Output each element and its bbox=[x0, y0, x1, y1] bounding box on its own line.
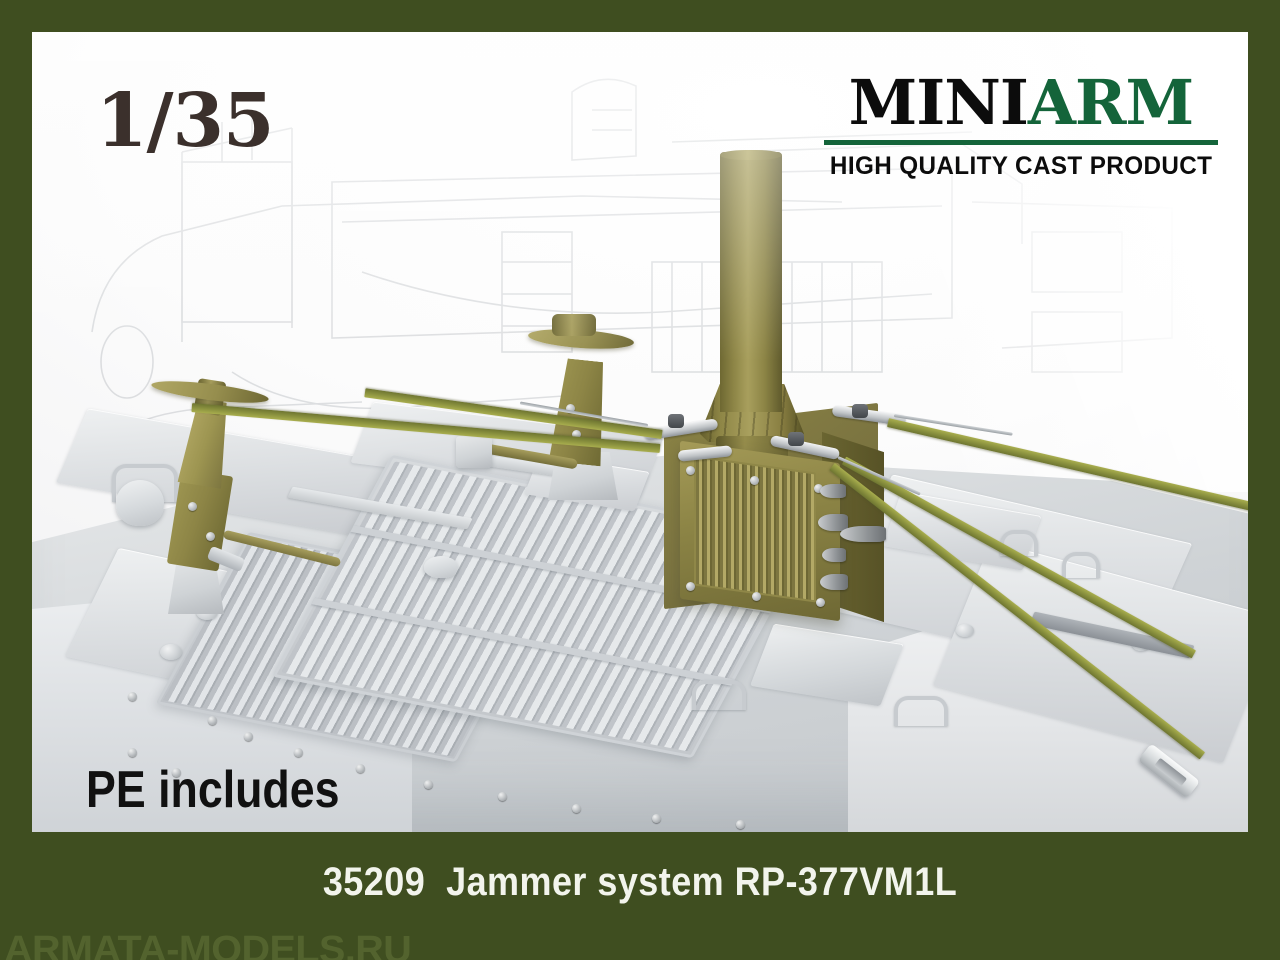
jammer-box-bolt bbox=[752, 592, 761, 601]
brand-wordmark-mini: MINI bbox=[849, 66, 1028, 139]
jammer-box-connector bbox=[820, 484, 846, 498]
jammer-box-bolt bbox=[816, 598, 825, 607]
hull-bolt bbox=[424, 780, 433, 789]
brand-underline-rule bbox=[824, 140, 1218, 145]
central-antenna-mast bbox=[720, 152, 782, 412]
jammer-box-connector bbox=[822, 548, 846, 562]
brand-wordmark-arm: ARM bbox=[1028, 66, 1193, 139]
brand-logo: MINIARM HIGH QUALITY CAST PRODUCT bbox=[824, 72, 1218, 181]
tie-down-lug-3 bbox=[956, 624, 974, 637]
product-photo: 1/35 PE includes MINIARM HIGH QUALITY CA… bbox=[32, 32, 1248, 832]
hull-bolt bbox=[208, 716, 217, 725]
deck-dome-small bbox=[424, 556, 458, 578]
deck-dome-fitting bbox=[116, 480, 164, 526]
hull-bolt bbox=[736, 820, 745, 829]
strap-clamp-knob-front bbox=[788, 432, 804, 446]
strap-clamp-knob-left bbox=[668, 414, 684, 428]
jammer-box-bolt bbox=[750, 476, 759, 485]
mast-top-rim bbox=[720, 150, 782, 160]
grab-handle-2 bbox=[894, 696, 948, 726]
grab-handle-1 bbox=[692, 680, 746, 710]
hull-bolt bbox=[356, 764, 365, 773]
brand-tagline: HIGH QUALITY CAST PRODUCT bbox=[830, 152, 1212, 181]
pe-includes-label: PE includes bbox=[86, 764, 339, 816]
hull-bolt bbox=[294, 748, 303, 757]
hull-bolt bbox=[244, 732, 253, 741]
center-antenna-top-cap bbox=[552, 314, 596, 336]
grab-handle-4 bbox=[1062, 552, 1100, 578]
brand-wordmark: MINIARM bbox=[824, 72, 1218, 134]
center-antenna-hinge-fitting bbox=[456, 436, 492, 468]
strap-clamp-knob-right bbox=[852, 404, 868, 418]
hull-bolt bbox=[128, 692, 137, 701]
jammer-box-bolt bbox=[686, 466, 695, 475]
hull-bolt bbox=[652, 814, 661, 823]
jammer-box-bolt bbox=[686, 582, 695, 591]
hull-bolt bbox=[498, 792, 507, 801]
site-watermark: ARMATA-MODELS.RU bbox=[4, 929, 411, 960]
left-antenna-bolt bbox=[188, 502, 197, 511]
jammer-box-cable-gland bbox=[840, 526, 886, 542]
hull-bolt bbox=[572, 804, 581, 813]
hull-bolt bbox=[128, 748, 137, 757]
left-antenna-bolt bbox=[206, 532, 215, 541]
poster-root: 1/35 PE includes MINIARM HIGH QUALITY CA… bbox=[0, 0, 1280, 960]
product-caption: 35209 Jammer system RP-377VM1L bbox=[64, 852, 1216, 912]
scale-label: 1/35 bbox=[96, 84, 274, 158]
jammer-box-connector bbox=[820, 574, 848, 590]
tie-down-lug-2 bbox=[160, 644, 182, 660]
